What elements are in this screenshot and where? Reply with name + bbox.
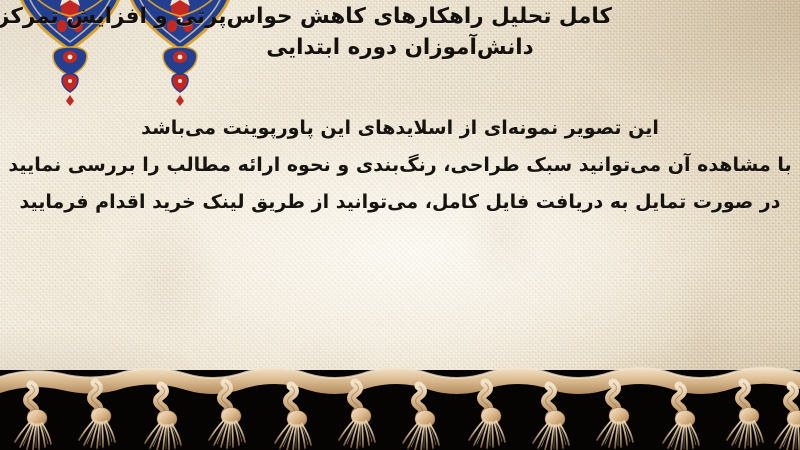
body-line-2: با مشاهده آن می‌توانید سبک طراحی، رنگ‌بن… bbox=[0, 147, 800, 184]
body-line-3: در صورت تمایل به دریافت فایل کامل، می‌تو… bbox=[0, 184, 800, 221]
slide-title: کامل تحلیل راهکارهای کاهش حواس‌پرتی و اف… bbox=[18, 2, 782, 64]
title-line-1: کامل تحلیل راهکارهای کاهش حواس‌پرتی و اف… bbox=[18, 2, 782, 33]
title-line-2: دانش‌آموزان دوره ابتدایی bbox=[18, 33, 782, 64]
carpet-tassel-fringe-icon bbox=[0, 355, 800, 450]
carpet-fringe-border bbox=[0, 355, 800, 450]
body-line-1: این تصویر نمونه‌ای از اسلایدهای این پاور… bbox=[0, 110, 800, 147]
presentation-slide: کامل تحلیل راهکارهای کاهش حواس‌پرتی و اف… bbox=[0, 0, 800, 450]
slide-body-text: این تصویر نمونه‌ای از اسلایدهای این پاور… bbox=[0, 110, 800, 221]
